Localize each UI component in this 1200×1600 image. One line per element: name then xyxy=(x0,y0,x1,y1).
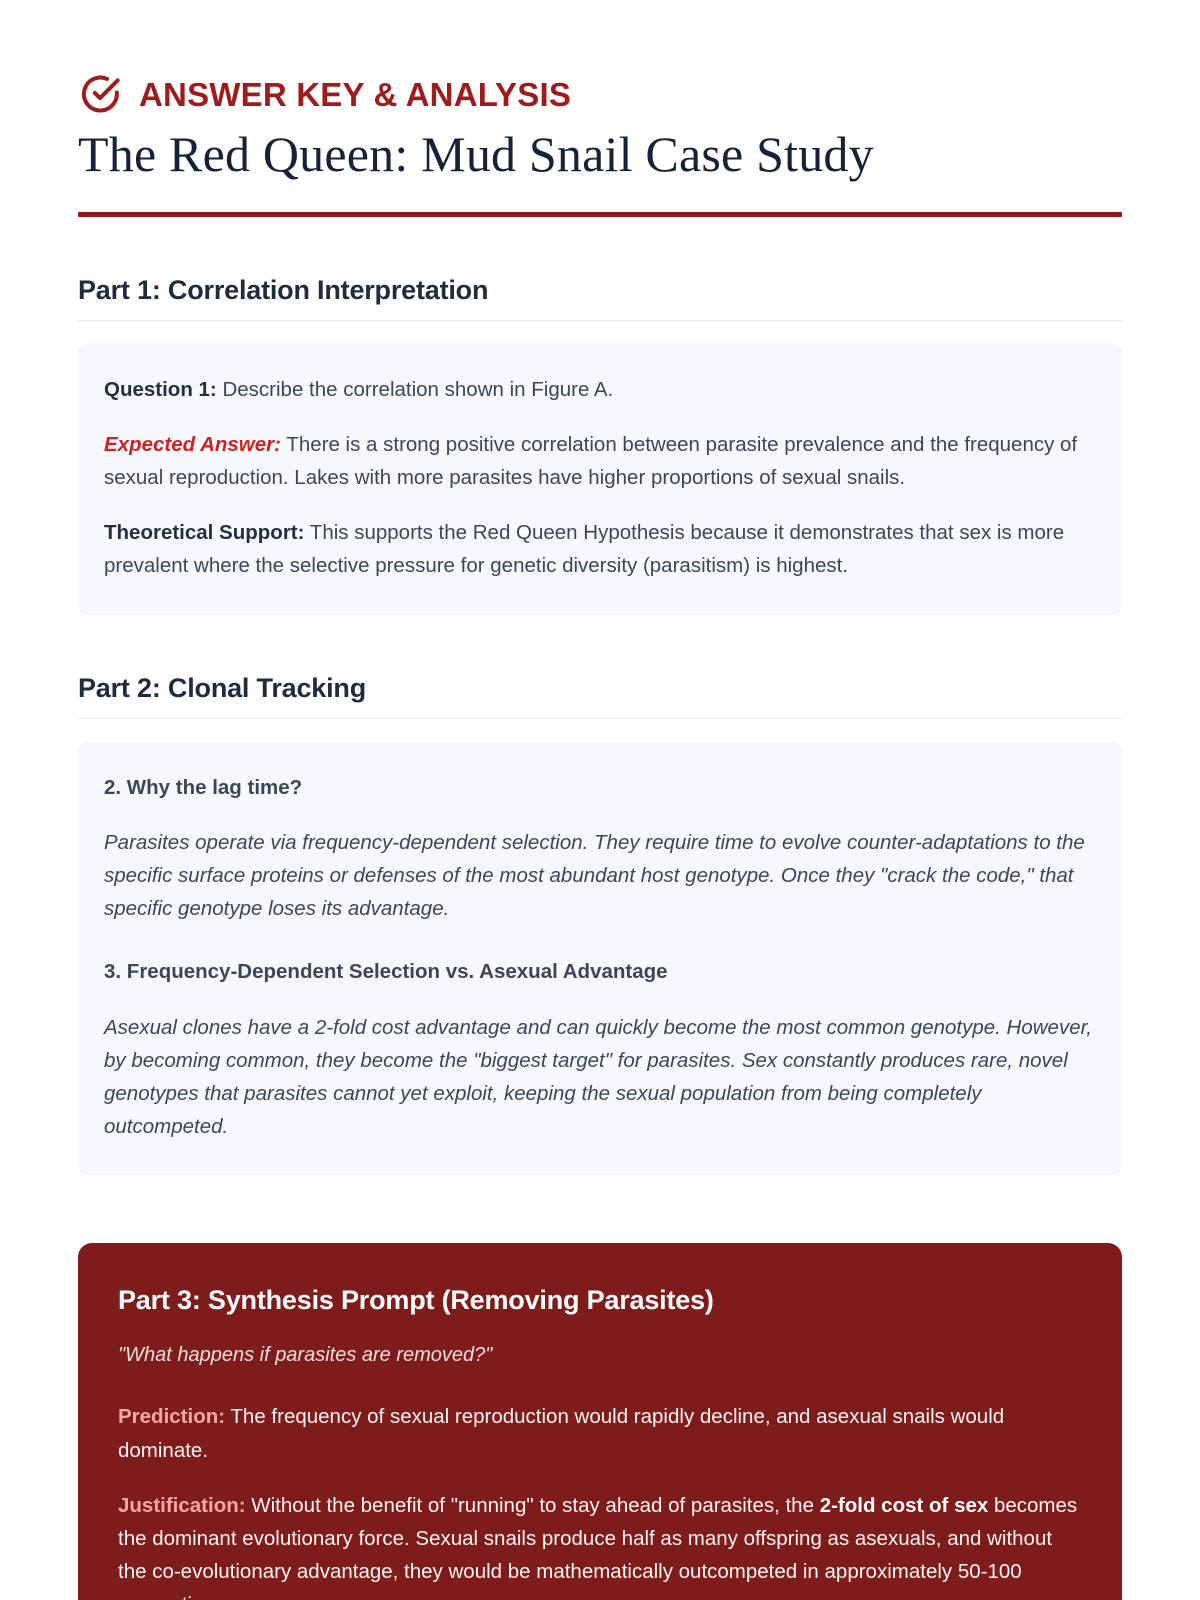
section-divider xyxy=(78,320,1122,321)
qa-question: 3. Frequency-Dependent Selection vs. Ase… xyxy=(104,955,1096,988)
answer-key-document: ANSWER KEY & ANALYSIS The Red Queen: Mud… xyxy=(0,0,1200,1600)
section-heading-part-1: Part 1: Correlation Interpretation xyxy=(78,275,1122,306)
title-divider xyxy=(78,212,1122,217)
document-header: ANSWER KEY & ANALYSIS The Red Queen: Mud… xyxy=(78,0,1122,217)
justification-label: Justification: xyxy=(118,1494,246,1517)
qa-question: 2. Why the lag time? xyxy=(104,771,1096,804)
section-part-3-synthesis-panel: Part 3: Synthesis Prompt (Removing Paras… xyxy=(78,1243,1122,1600)
qa-block: 3. Frequency-Dependent Selection vs. Ase… xyxy=(104,955,1096,1143)
prediction-paragraph: Prediction: The frequency of sexual repr… xyxy=(118,1400,1082,1466)
justification-text-part-1: Without the benefit of "running" to stay… xyxy=(246,1494,820,1517)
synthesis-prompt-quote: "What happens if parasites are removed?" xyxy=(118,1340,1082,1370)
eyebrow-label: ANSWER KEY & ANALYSIS xyxy=(139,78,571,111)
qa-answer: Parasites operate via frequency-dependen… xyxy=(104,826,1096,926)
part-1-answer-card: Question 1: Describe the correlation sho… xyxy=(78,343,1122,615)
prediction-label: Prediction: xyxy=(118,1405,225,1428)
justification-emphasis: 2-fold cost of sex xyxy=(820,1494,989,1517)
question-1-paragraph: Question 1: Describe the correlation sho… xyxy=(104,373,1096,406)
document-eyebrow: ANSWER KEY & ANALYSIS xyxy=(78,72,1122,116)
section-heading-part-3: Part 3: Synthesis Prompt (Removing Paras… xyxy=(118,1285,1082,1316)
expected-answer-label: Expected Answer: xyxy=(104,433,281,456)
theoretical-support-paragraph: Theoretical Support: This supports the R… xyxy=(104,516,1096,582)
qa-answer: Asexual clones have a 2-fold cost advant… xyxy=(104,1011,1096,1144)
expected-answer-paragraph: Expected Answer: There is a strong posit… xyxy=(104,428,1096,494)
qa-block: 2. Why the lag time? Parasites operate v… xyxy=(104,771,1096,926)
section-part-1: Part 1: Correlation Interpretation Quest… xyxy=(78,275,1122,615)
section-part-2: Part 2: Clonal Tracking 2. Why the lag t… xyxy=(78,673,1122,1176)
prediction-text: The frequency of sexual reproduction wou… xyxy=(118,1405,1004,1461)
part-2-answer-card: 2. Why the lag time? Parasites operate v… xyxy=(78,741,1122,1176)
circle-check-icon xyxy=(78,72,122,116)
question-1-text: Describe the correlation shown in Figure… xyxy=(217,378,614,401)
justification-paragraph: Justification: Without the benefit of "r… xyxy=(118,1489,1082,1600)
question-1-label: Question 1: xyxy=(104,378,217,401)
section-divider xyxy=(78,718,1122,719)
page-title: The Red Queen: Mud Snail Case Study xyxy=(78,126,1122,184)
theoretical-support-label: Theoretical Support: xyxy=(104,521,304,544)
section-heading-part-2: Part 2: Clonal Tracking xyxy=(78,673,1122,704)
